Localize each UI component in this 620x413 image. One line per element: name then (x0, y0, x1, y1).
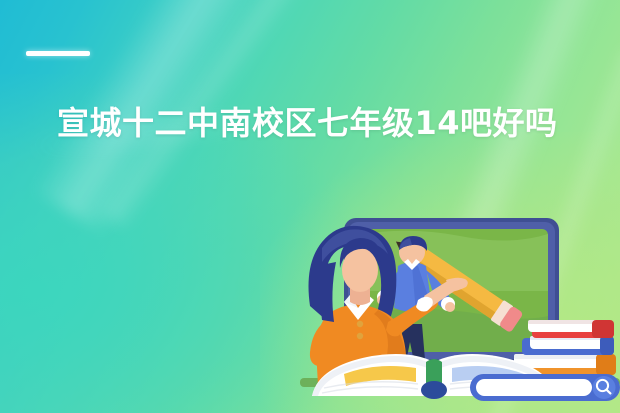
book-top (528, 320, 614, 338)
banner-image: 宣城十二中南校区七年级14吧好吗 (0, 0, 620, 413)
search-bar[interactable] (470, 374, 620, 401)
headline-title: 宣城十二中南校区七年级14吧好吗 (57, 101, 577, 145)
search-input[interactable] (476, 379, 592, 396)
search-icon[interactable] (593, 376, 616, 399)
book-middle (522, 336, 614, 355)
education-illustration (300, 196, 620, 413)
decorative-dash (26, 51, 90, 56)
